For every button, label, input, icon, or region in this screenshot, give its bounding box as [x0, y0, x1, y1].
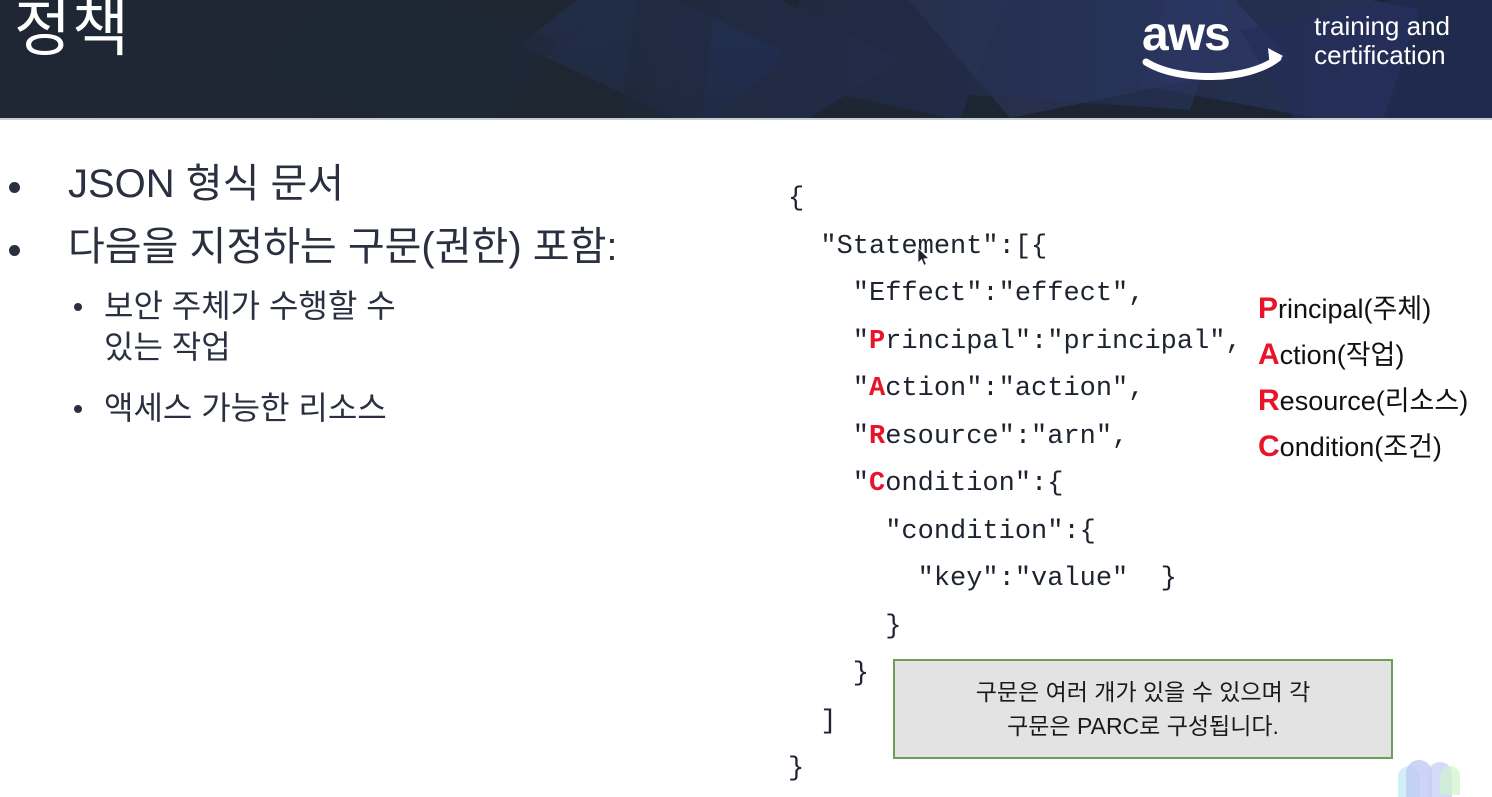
code-line: "Principal":"principal", [788, 319, 1242, 367]
code-line: "Resource":"arn", [788, 414, 1242, 462]
parc-legend-label: ondition(조건) [1280, 432, 1442, 462]
parc-initial-p: P [869, 327, 885, 357]
parc-legend-label: rincipal(주체) [1278, 294, 1431, 324]
parc-legend: Principal(주체)Action(작업)Resource(리소스)Cond… [1258, 286, 1468, 470]
code-line: "key":"value" } [788, 556, 1242, 604]
decorative-watermark [1388, 749, 1474, 797]
bullet-subitem-actions: 보안 주체가 수행할 수 있는 작업 [0, 286, 760, 368]
mouse-cursor [917, 247, 931, 267]
aws-tagline-line2: certification [1314, 41, 1450, 70]
parc-legend-item-a: Action(작업) [1258, 332, 1468, 378]
bullet-list: JSON 형식 문서 다음을 지정하는 구문(권한) 포함: 보안 주체가 수행… [0, 160, 760, 432]
parc-legend-label: ction(작업) [1280, 340, 1405, 370]
code-line: "condition":{ [788, 509, 1242, 557]
parc-legend-initial: P [1258, 292, 1278, 325]
header-divider [0, 118, 1492, 120]
parc-legend-initial: R [1258, 384, 1280, 417]
aws-tagline-line1: training and [1314, 12, 1450, 41]
parc-legend-item-c: Condition(조건) [1258, 424, 1468, 470]
bullet-item-statements: 다음을 지정하는 구문(권한) 포함: [0, 223, 760, 272]
callout-line-1: 구문은 여러 개가 있을 수 있으며 각 [976, 675, 1311, 709]
parc-legend-item-p: Principal(주체) [1258, 286, 1468, 332]
bullet-subitem-resources: 액세스 가능한 리소스 [0, 388, 760, 429]
bullet-item-json-format: JSON 형식 문서 [0, 160, 760, 209]
code-line: "Condition":{ [788, 461, 1242, 509]
parc-legend-initial: A [1258, 338, 1280, 371]
parc-initial-r: R [869, 422, 885, 452]
code-line: { [788, 176, 1242, 224]
callout-note: 구문은 여러 개가 있을 수 있으며 각 구문은 PARC로 구성됩니다. [893, 659, 1393, 759]
bullet-subitem-resources-line1: 액세스 가능한 리소스 [104, 388, 760, 429]
code-line: "Statement":[{ [788, 224, 1242, 272]
header-banner: 정책 aws training and certification [0, 0, 1492, 118]
bullet-subitem-actions-line1: 보안 주체가 수행할 수 [104, 286, 760, 327]
aws-logo: aws training and certification [1142, 8, 1450, 80]
bullet-subitem-actions-line2: 있는 작업 [104, 327, 760, 368]
parc-legend-label: esource(리소스) [1280, 386, 1469, 416]
svg-text:aws: aws [1142, 8, 1230, 61]
aws-tagline: training and certification [1314, 12, 1450, 76]
aws-wordmark-icon: aws [1142, 8, 1294, 80]
page-title: 정책 [14, 0, 130, 65]
parc-legend-initial: C [1258, 430, 1280, 463]
code-line: "Action":"action", [788, 366, 1242, 414]
code-line: "Effect":"effect", [788, 271, 1242, 319]
parc-initial-a: A [869, 374, 885, 404]
callout-line-2: 구문은 PARC로 구성됩니다. [1007, 709, 1279, 743]
parc-legend-item-r: Resource(리소스) [1258, 378, 1468, 424]
code-line: } [788, 604, 1242, 652]
parc-initial-c: C [869, 469, 885, 499]
